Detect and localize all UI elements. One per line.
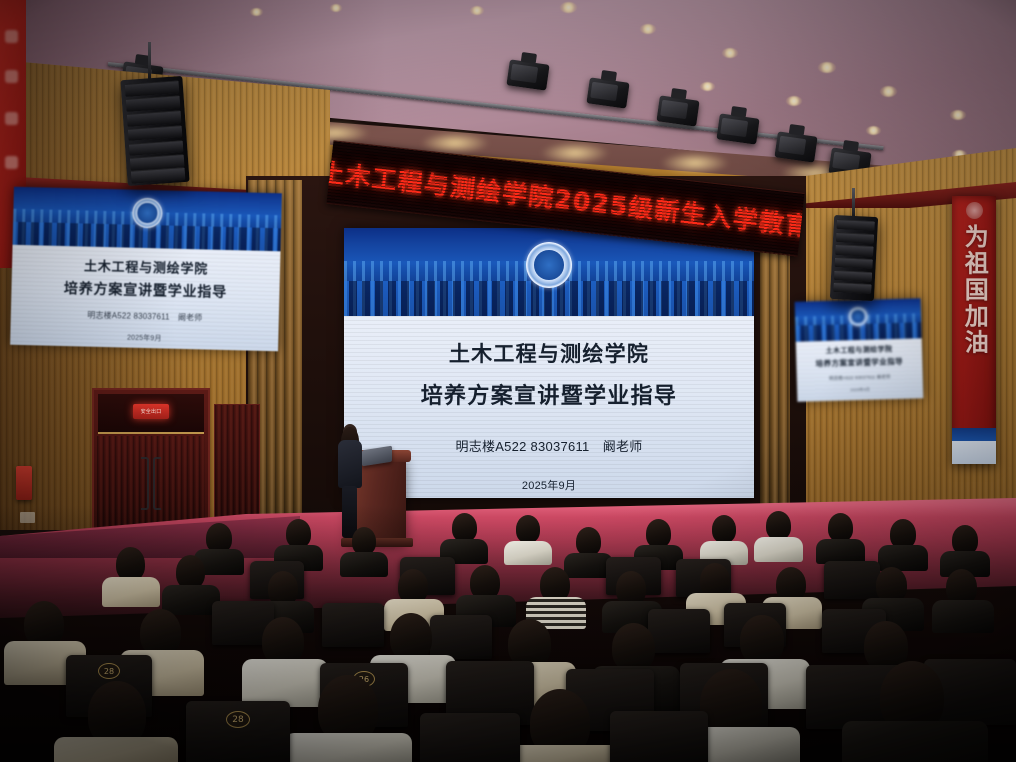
- ceiling-downlight: [722, 48, 738, 58]
- audience-head: [516, 515, 540, 543]
- right-side-screen: 土木工程与测绘学院 培养方案宣讲暨学业指导 明志楼A522 83037611 阚…: [795, 298, 924, 401]
- audience-seating-area: 28 26 28: [0, 505, 1016, 762]
- stage-light: [506, 59, 549, 90]
- audience-head: [740, 615, 784, 665]
- right-slide-title-line1: 土木工程与测绘学院: [796, 343, 922, 357]
- right-slide-header-image: [795, 298, 922, 342]
- right-slide-date: 2025年9月: [797, 385, 923, 395]
- audience-head: [452, 513, 477, 542]
- ceiling-downlight: [640, 24, 656, 34]
- seat-number-badge: 28: [226, 711, 250, 728]
- slide-title-line1: 土木工程与测绘学院: [344, 338, 754, 368]
- line-array-speaker-right: [830, 215, 878, 301]
- left-slide-title-line1: 土木工程与测绘学院: [12, 254, 280, 280]
- stage-light: [656, 95, 699, 126]
- right-slide-body: 土木工程与测绘学院 培养方案宣讲暨学业指导 明志楼A522 83037611 阚…: [796, 338, 924, 401]
- exit-sign-label: 安全出口: [141, 408, 162, 415]
- ceiling-downlight: [330, 4, 342, 12]
- speaker-rigging-right: [852, 188, 855, 218]
- audience-shoulders: [504, 541, 552, 565]
- audience-shoulders: [340, 552, 388, 577]
- audience-head: [286, 519, 311, 548]
- audience-shoulders: [242, 659, 328, 707]
- audience-shoulders-foreground: [54, 737, 178, 762]
- left-side-screen: 土木工程与测绘学院 培养方案宣讲暨学业指导 明志楼A522 83037611 阚…: [10, 187, 282, 352]
- door-transom: 安全出口: [98, 394, 204, 434]
- left-slide-header-image: [13, 187, 282, 252]
- stage-light: [774, 131, 817, 162]
- left-slide-body: 土木工程与测绘学院 培养方案宣讲暨学业指导 明志楼A522 83037611 阚…: [10, 245, 280, 352]
- audience-shoulders: [754, 537, 803, 562]
- exit-sign-icon: 安全出口: [133, 404, 169, 419]
- slide-title-line2: 培养方案宣讲暨学业指导: [344, 378, 754, 410]
- audience-head: [646, 519, 671, 548]
- ceiling-downlight: [786, 96, 802, 106]
- cove-glow: [660, 152, 730, 174]
- vertical-banner-text: 为祖国加油: [962, 224, 986, 356]
- vertical-calligraphy-banner: 为祖国加油: [952, 196, 996, 464]
- ceiling-downlight: [866, 126, 881, 135]
- theater-seat[interactable]: [824, 561, 880, 599]
- ceiling-downlight: [950, 110, 966, 120]
- fire-extinguisher-box: [16, 466, 32, 500]
- audience-shoulders: [932, 600, 994, 633]
- audience-shoulders: [102, 577, 160, 607]
- cove-glow: [540, 142, 610, 164]
- ceiling-downlight: [560, 2, 577, 13]
- door-handle-icon[interactable]: [141, 457, 149, 510]
- right-slide-title-line2: 培养方案宣讲暨学业指导: [796, 355, 922, 370]
- audience-head: [390, 613, 432, 661]
- audience-head: [116, 547, 145, 581]
- university-emblem-icon: [526, 242, 572, 288]
- ceiling-downlight: [250, 8, 263, 16]
- stage-light: [586, 77, 629, 108]
- banner-bottom-panel: [952, 428, 996, 464]
- audience-head: [176, 555, 205, 589]
- ceiling-downlight: [700, 82, 715, 91]
- audience-head: [828, 513, 853, 542]
- door-handle-icon[interactable]: [153, 457, 161, 510]
- left-slide-contact: 明志楼A522 83037611 阚老师: [11, 308, 279, 326]
- stage-curtain-right: [760, 208, 790, 530]
- ceiling-downlight: [470, 6, 484, 15]
- speaker-rigging-left: [148, 42, 151, 80]
- theater-seat-foreground[interactable]: 28: [186, 701, 290, 762]
- banner-seal-icon: [966, 202, 983, 219]
- theater-seat-foreground[interactable]: [610, 711, 708, 762]
- audience-head: [262, 617, 304, 665]
- audience-head: [712, 515, 736, 543]
- stage-light: [716, 113, 759, 144]
- ceiling-downlight: [818, 62, 836, 73]
- auditorium-photo: 土木工程与测绘学院 培养方案宣讲暨学业指导 明志楼A522 83037611 阚…: [0, 0, 1016, 762]
- audience-head: [766, 511, 791, 540]
- audience-shoulders-foreground: [842, 721, 988, 762]
- audience-head: [612, 623, 655, 672]
- ceiling-downlight: [880, 86, 897, 97]
- left-slide-date: 2025年9月: [10, 330, 278, 347]
- left-slide-title-line2: 培养方案宣讲暨学业指导: [11, 277, 279, 304]
- theater-seat-foreground[interactable]: [420, 713, 520, 762]
- theater-seat[interactable]: [648, 609, 710, 653]
- theater-seat[interactable]: [322, 603, 384, 647]
- audience-head: [576, 527, 601, 556]
- audience-head: [352, 527, 376, 555]
- audience-head: [140, 609, 181, 656]
- seat-number-badge: 28: [98, 663, 120, 679]
- right-slide-contact: 明志楼A522 83037611 阚老师: [797, 373, 923, 383]
- audience-shoulders-foreground: [284, 733, 412, 762]
- presenter-torso: [338, 440, 362, 488]
- theater-seat[interactable]: [430, 615, 492, 659]
- line-array-speaker-left: [120, 76, 189, 186]
